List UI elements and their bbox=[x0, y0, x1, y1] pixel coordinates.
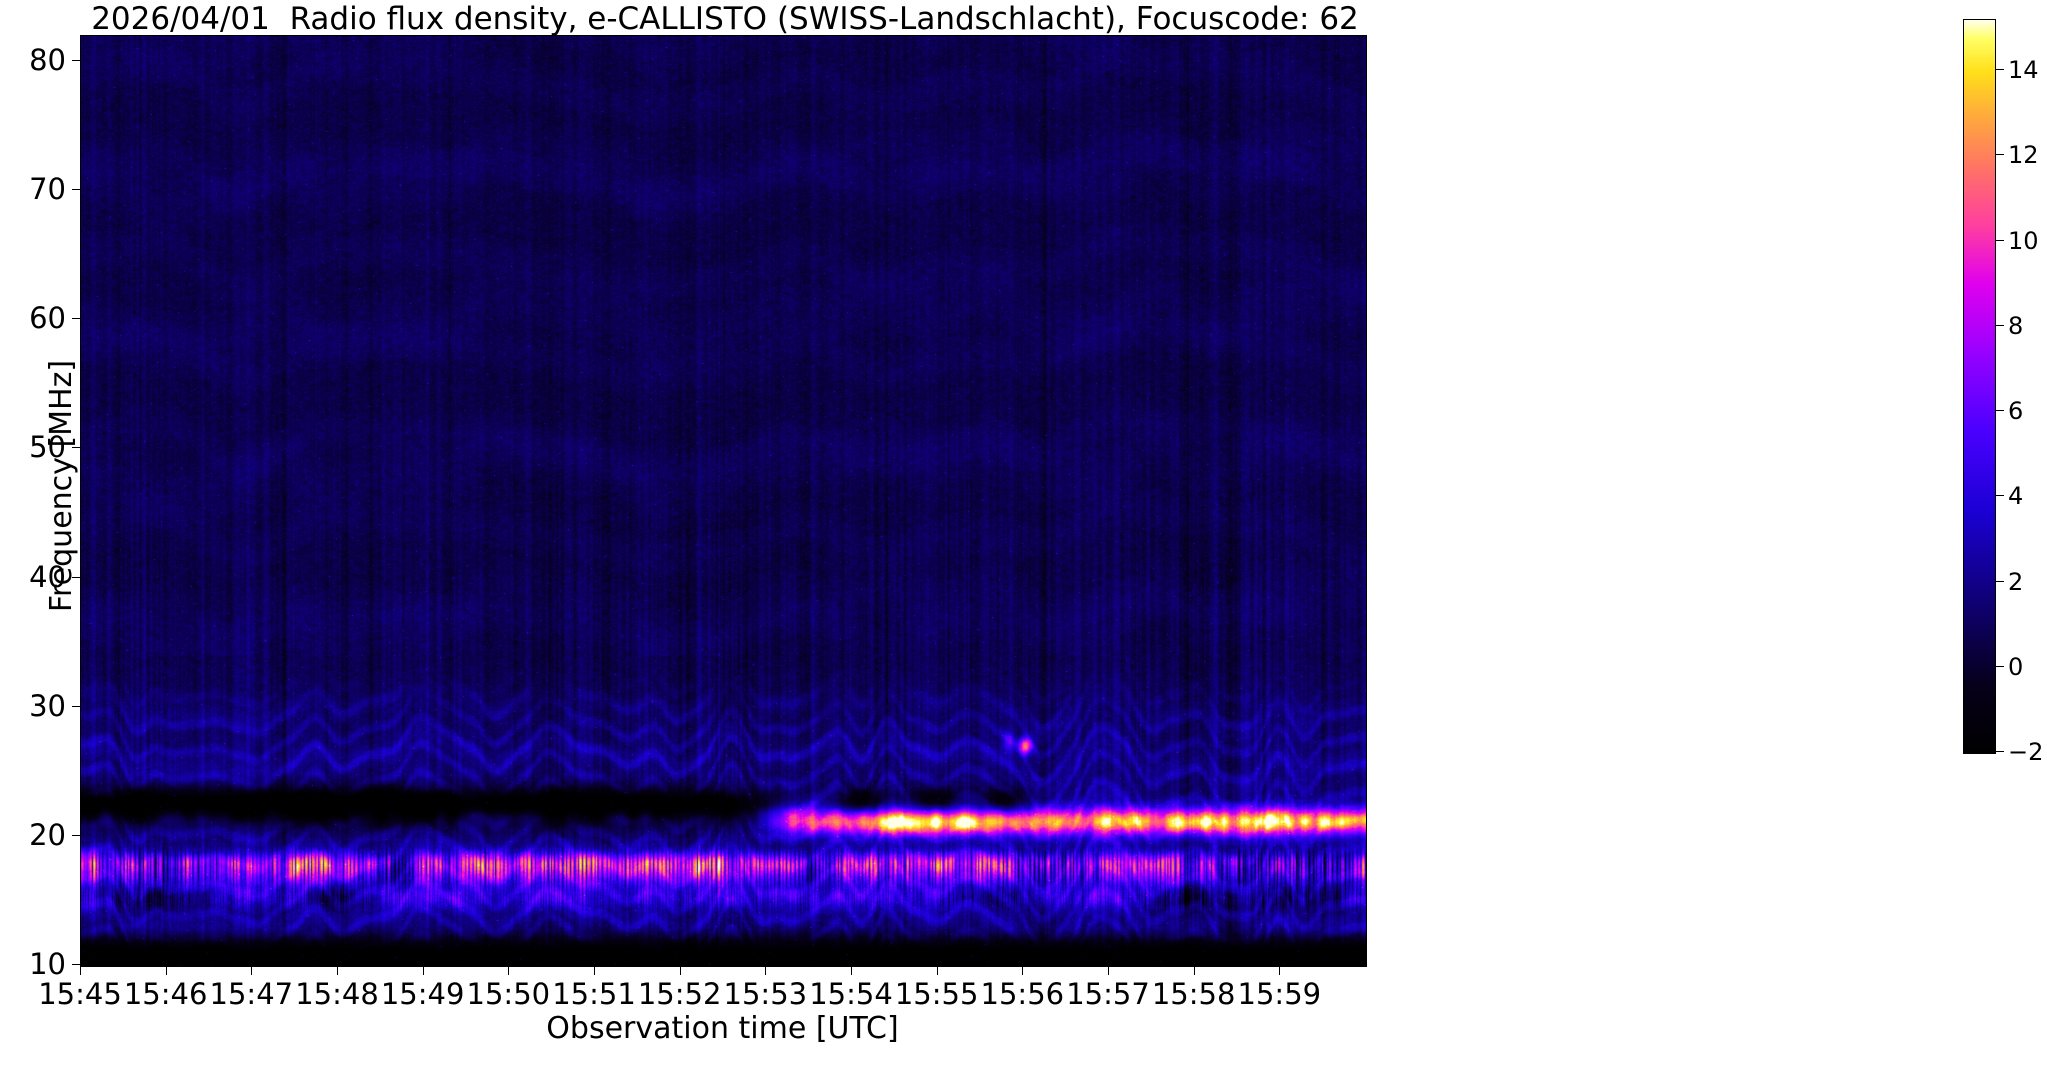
colorbar-tick bbox=[1996, 410, 2004, 411]
x-axis-tick bbox=[1108, 966, 1109, 975]
y-axis-tick-label: 80 bbox=[0, 46, 66, 75]
x-axis-tick bbox=[508, 966, 509, 975]
y-axis-tick bbox=[72, 964, 81, 965]
x-axis-tick bbox=[765, 966, 766, 975]
y-axis-tick-label: 10 bbox=[0, 950, 66, 979]
spectrogram-image bbox=[81, 36, 1366, 966]
colorbar-tick bbox=[1996, 69, 2004, 70]
y-axis-tick bbox=[72, 60, 81, 61]
colorbar-tick bbox=[1996, 666, 2004, 667]
x-axis-label: Observation time [UTC] bbox=[80, 1012, 1365, 1045]
colorbar-tick bbox=[1996, 325, 2004, 326]
x-axis-tick bbox=[1194, 966, 1195, 975]
colorbar-tick bbox=[1996, 581, 2004, 582]
x-axis-tick bbox=[594, 966, 595, 975]
x-axis-tick bbox=[680, 966, 681, 975]
x-axis-tick bbox=[166, 966, 167, 975]
x-axis-tick-label: 15:59 bbox=[1219, 978, 1339, 1010]
colorbar-tick-label: 0 bbox=[2008, 655, 2023, 679]
x-axis-tick bbox=[937, 966, 938, 975]
colorbar-tick-label: 8 bbox=[2008, 314, 2023, 338]
colorbar[interactable] bbox=[1963, 19, 1996, 754]
x-axis-tick bbox=[80, 966, 81, 975]
x-axis-tick bbox=[1022, 966, 1023, 975]
x-axis-tick bbox=[251, 966, 252, 975]
colorbar-gradient bbox=[1964, 20, 1995, 753]
page-title: 2026/04/01 Radio flux density, e-CALLIST… bbox=[0, 2, 1450, 36]
x-axis-tick bbox=[851, 966, 852, 975]
y-axis-tick bbox=[72, 835, 81, 836]
colorbar-tick-label: 12 bbox=[2008, 143, 2039, 167]
x-axis-tick bbox=[1279, 966, 1280, 975]
spectrogram-axes[interactable] bbox=[80, 35, 1367, 967]
x-axis-tick bbox=[337, 966, 338, 975]
y-axis-label: Frequency [MHz] bbox=[46, 176, 78, 796]
y-axis-tick-label: 20 bbox=[0, 821, 66, 850]
colorbar-tick bbox=[1996, 495, 2004, 496]
colorbar-tick-label: −2 bbox=[2008, 740, 2043, 764]
colorbar-tick-label: 10 bbox=[2008, 229, 2039, 253]
figure-canvas: 2026/04/01 Radio flux density, e-CALLIST… bbox=[0, 0, 2047, 1067]
x-axis-tick bbox=[423, 966, 424, 975]
colorbar-tick-label: 2 bbox=[2008, 570, 2023, 594]
colorbar-tick bbox=[1996, 154, 2004, 155]
colorbar-tick-label: 6 bbox=[2008, 399, 2023, 423]
colorbar-tick bbox=[1996, 240, 2004, 241]
colorbar-tick-label: 14 bbox=[2008, 58, 2039, 82]
colorbar-tick bbox=[1996, 751, 2004, 752]
colorbar-tick-label: 4 bbox=[2008, 484, 2023, 508]
